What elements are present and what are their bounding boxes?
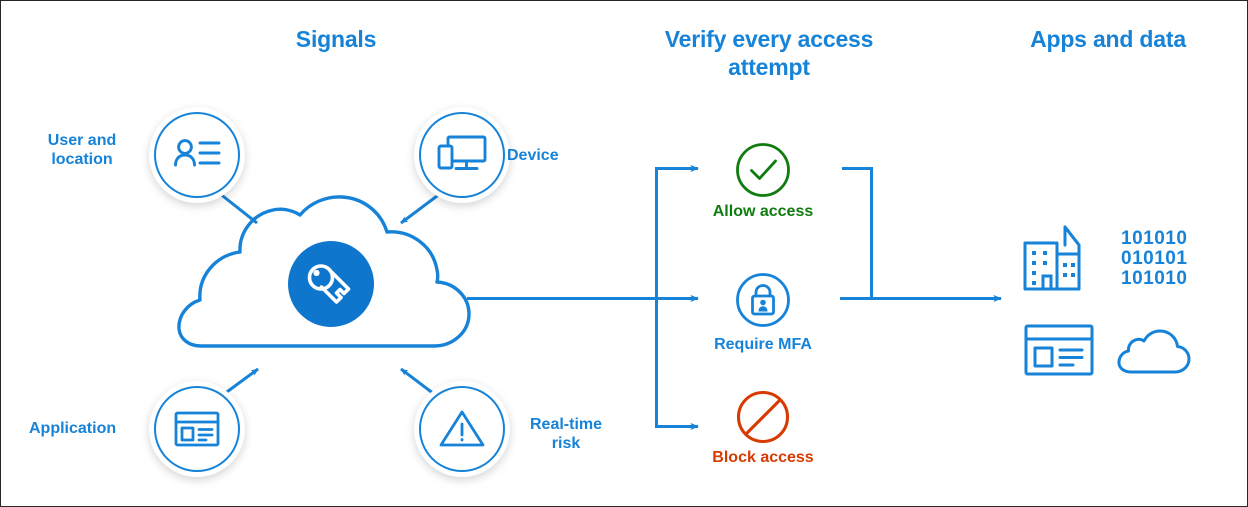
- signal-badge-ring: [419, 112, 505, 198]
- signal-badge-real-time-risk[interactable]: [414, 381, 510, 477]
- decision-icon-allow-access[interactable]: [735, 142, 791, 203]
- connector-allow-to-apps-elbow: [842, 169, 872, 299]
- signal-label-line1: Application: [29, 419, 169, 438]
- arrow-device-to-cloud: [401, 193, 441, 223]
- decision-label-block-access: Block access: [663, 448, 863, 467]
- binary-row: 101010: [1121, 229, 1187, 249]
- signal-label-line2: location: [17, 150, 147, 169]
- application-window-icon: [1023, 323, 1095, 378]
- block-circle-icon: [735, 389, 791, 445]
- signal-label-device: Device: [507, 146, 627, 165]
- decision-icon-require-mfa[interactable]: [735, 272, 791, 333]
- decision-label-allow-access: Allow access: [663, 202, 863, 221]
- binary-data-icon: 101010 010101 101010: [1121, 229, 1187, 289]
- signal-label-application: Application: [7, 419, 169, 438]
- cloud-outline-icon: [1115, 326, 1193, 376]
- signal-label-line1: Device: [507, 146, 627, 165]
- signal-label-real-time-risk: Real-time risk: [506, 415, 626, 453]
- user-card-icon: [172, 135, 222, 175]
- signal-label-line2: risk: [506, 434, 626, 453]
- signal-badge-user-and-location[interactable]: [149, 107, 245, 203]
- signal-badge-device[interactable]: [414, 107, 510, 203]
- diagram-canvas: Signals Verify every access attempt Apps…: [0, 0, 1248, 507]
- policy-engine-key-disc: [288, 241, 374, 327]
- apps-icon-web-application[interactable]: [1023, 323, 1095, 383]
- application-window-icon: [173, 409, 221, 449]
- apps-icon-binary-data: 101010 010101 101010: [1121, 229, 1187, 289]
- signal-label-line1: User and: [17, 131, 147, 150]
- binary-row: 010101: [1121, 249, 1187, 269]
- signal-badge-ring: [419, 386, 505, 472]
- apps-icon-buildings[interactable]: [1021, 223, 1097, 298]
- arrow-user-to-cloud: [219, 193, 257, 223]
- decision-icon-block-access[interactable]: [735, 389, 791, 450]
- signal-label-line1: Real-time: [506, 415, 626, 434]
- warning-triangle-icon: [437, 407, 487, 451]
- check-circle-icon: [735, 142, 791, 198]
- signal-badge-ring: [154, 112, 240, 198]
- key-icon: [288, 241, 374, 327]
- device-monitor-phone-icon: [436, 133, 488, 177]
- signal-label-user-and-location: User and location: [17, 131, 147, 169]
- apps-icon-cloud-service[interactable]: [1115, 326, 1193, 381]
- decision-label-require-mfa: Require MFA: [663, 335, 863, 354]
- lock-person-circle-icon: [735, 272, 791, 328]
- binary-row: 101010: [1121, 269, 1187, 289]
- buildings-icon: [1021, 223, 1097, 293]
